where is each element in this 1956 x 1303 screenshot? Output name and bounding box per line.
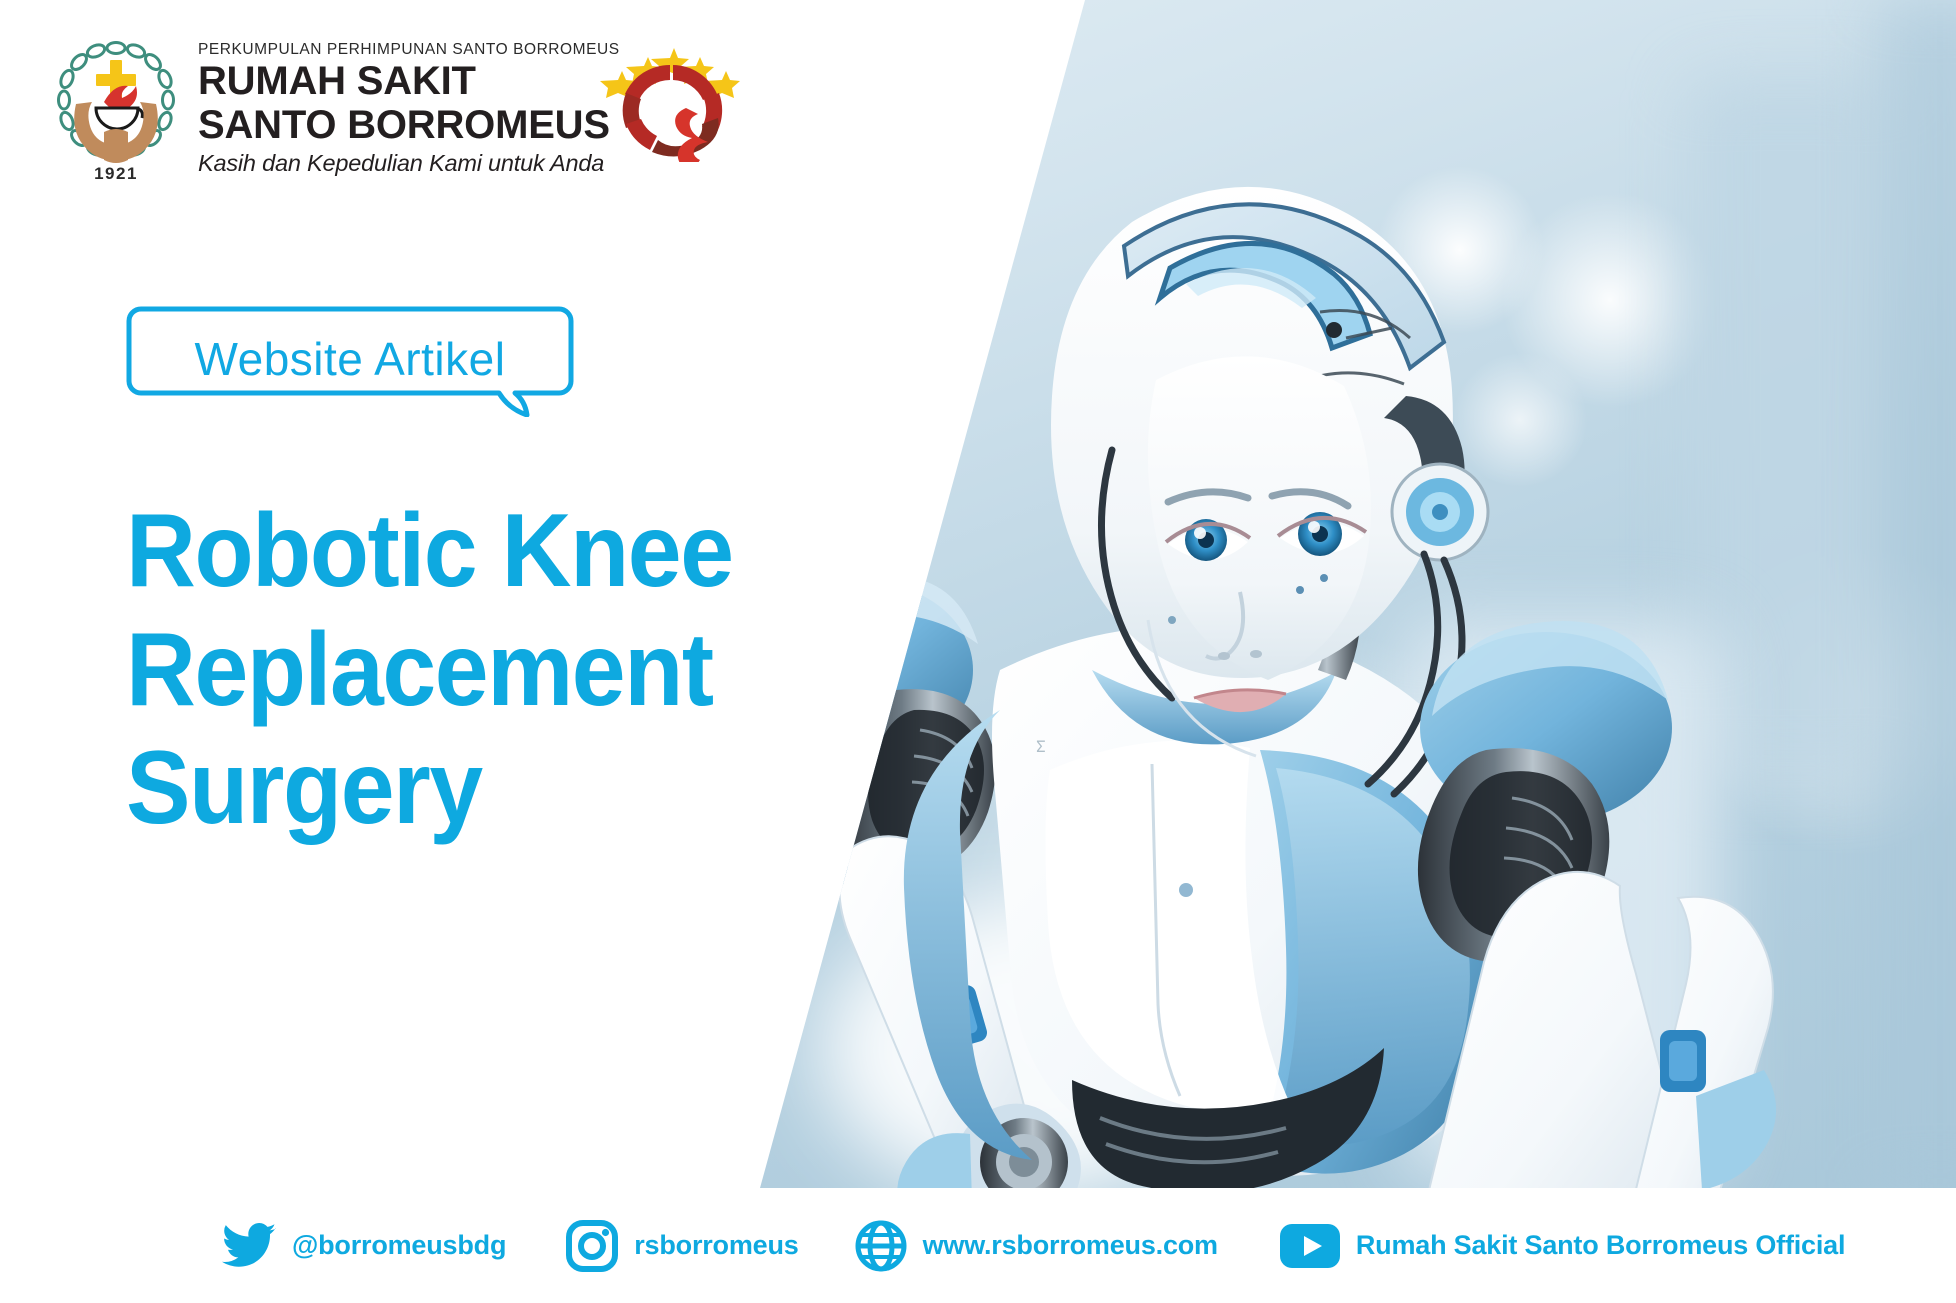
crest-year: 1921 [52, 164, 180, 184]
hospital-wordmark: PERKUMPULAN PERHIMPUNAN SANTO BORROMEUS … [198, 36, 620, 177]
social-link-twitter[interactable]: @borromeusbdg [222, 1223, 506, 1269]
page-title-line-1: Robotic Knee [126, 492, 889, 611]
social-link-youtube[interactable]: Rumah Sakit Santo Borromeus Official [1280, 1224, 1845, 1268]
youtube-icon [1280, 1224, 1340, 1268]
social-link-instagram[interactable]: rsborromeus [566, 1220, 798, 1272]
twitter-icon [222, 1223, 276, 1269]
article-badge: Website Artikel [125, 305, 575, 417]
social-link-website[interactable]: www.rsborromeus.com [855, 1220, 1218, 1272]
hospital-tagline: Kasih dan Kepedulian Kami untuk Anda [198, 150, 620, 177]
article-badge-label: Website Artikel [125, 305, 575, 417]
globe-icon [855, 1220, 907, 1272]
social-footer-bar: @borromeusbdg rsborromeus www.rsborromeu… [0, 1188, 1956, 1303]
bokeh-shape [1880, 0, 1956, 1188]
page-title-line-2: Replacement [126, 611, 889, 730]
page-title: Robotic Knee Replacement Surgery [126, 492, 946, 848]
social-label-website: www.rsborromeus.com [923, 1230, 1218, 1261]
instagram-icon [566, 1220, 618, 1272]
social-label-twitter: @borromeusbdg [292, 1230, 506, 1261]
hospital-superline: PERKUMPULAN PERHIMPUNAN SANTO BORROMEUS [198, 42, 620, 58]
kars-q-accreditation-icon [600, 42, 740, 162]
hospital-name-line2: SANTO BORROMEUS [198, 105, 620, 147]
page-title-line-3: Surgery [126, 729, 889, 848]
brand-header: 1921 PERKUMPULAN PERHIMPUNAN SANTO BORRO… [52, 36, 620, 177]
social-label-instagram: rsborromeus [634, 1230, 798, 1261]
borromeus-crest-icon: 1921 [52, 36, 180, 164]
social-label-youtube: Rumah Sakit Santo Borromeus Official [1356, 1230, 1845, 1261]
hospital-name-line1: RUMAH SAKIT [198, 61, 620, 103]
svg-text:Ʃ: Ʃ [1036, 737, 1046, 756]
